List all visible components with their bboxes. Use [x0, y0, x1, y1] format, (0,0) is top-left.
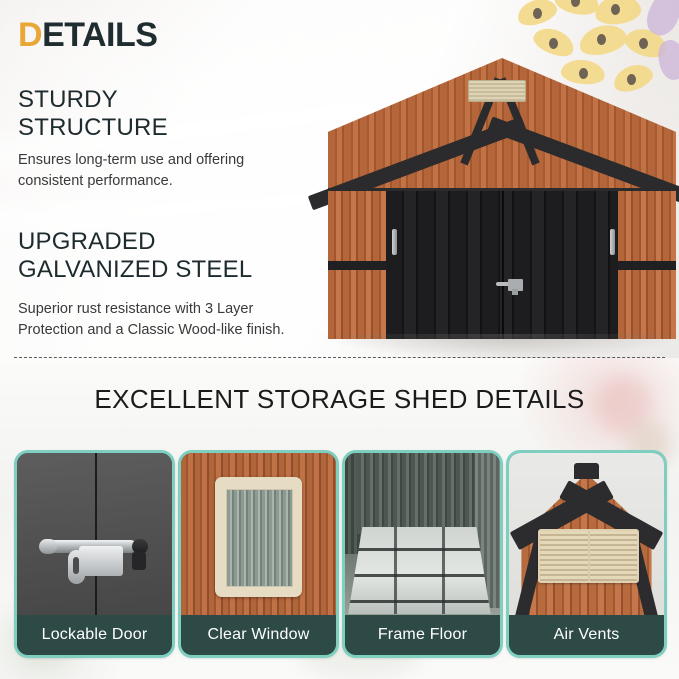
card-caption-air-vents: Air Vents	[509, 615, 664, 655]
feature-body-upgraded: Superior rust resistance with 3 Layer Pr…	[18, 299, 290, 341]
door-handle-right	[610, 229, 615, 255]
feature-heading-sturdy: STURDY STRUCTURE	[18, 86, 168, 143]
top-feature-section: DETAILS STURDY STRUCTURE Ensures long-te…	[0, 0, 679, 358]
ground-shadow	[318, 334, 679, 358]
detail-card-clear-window[interactable]: Clear Window	[178, 450, 339, 658]
door-latch-icon	[496, 279, 524, 293]
shed-body	[328, 188, 676, 339]
details-gallery-section: EXCELLENT STORAGE SHED DETAILS	[0, 358, 679, 679]
detail-card-lockable-door[interactable]: Lockable Door	[14, 450, 175, 658]
card-photo-lockable-door	[17, 453, 172, 621]
section-divider	[14, 357, 665, 358]
gable-vent-icon	[468, 80, 526, 102]
shed-doors	[386, 191, 618, 339]
card-photo-air-vents	[509, 453, 664, 621]
gallery-heading: EXCELLENT STORAGE SHED DETAILS	[0, 384, 679, 415]
card-photo-frame-floor	[345, 453, 500, 621]
wood-post-right	[618, 191, 676, 339]
card-photo-clear-window	[181, 453, 336, 621]
shed-product-image	[300, 20, 679, 358]
door-handle-left	[392, 229, 397, 255]
feature-heading-upgraded: UPGRADED GALVANIZED STEEL	[18, 228, 252, 285]
feature-body-sturdy: Ensures long-term use and offering consi…	[18, 150, 290, 192]
window-frame-icon	[215, 477, 302, 598]
card-caption-lockable-door: Lockable Door	[17, 615, 172, 655]
page-title-rest: ETAILS	[42, 16, 157, 54]
page-title-accent-letter: D	[18, 16, 42, 54]
detail-card-air-vents[interactable]: Air Vents	[506, 450, 667, 658]
card-caption-clear-window: Clear Window	[181, 615, 336, 655]
louvered-vent-icon	[538, 529, 638, 583]
slide-bolt-latch-icon	[39, 534, 151, 584]
product-detail-infographic: DETAILS STURDY STRUCTURE Ensures long-te…	[0, 0, 679, 679]
wood-post-left	[328, 191, 386, 339]
floor-frame-icon	[348, 527, 491, 614]
card-caption-frame-floor: Frame Floor	[345, 615, 500, 655]
page-title: DETAILS	[18, 18, 157, 52]
detail-card-list: Lockable Door Clear Window	[14, 450, 667, 658]
detail-card-frame-floor[interactable]: Frame Floor	[342, 450, 503, 658]
